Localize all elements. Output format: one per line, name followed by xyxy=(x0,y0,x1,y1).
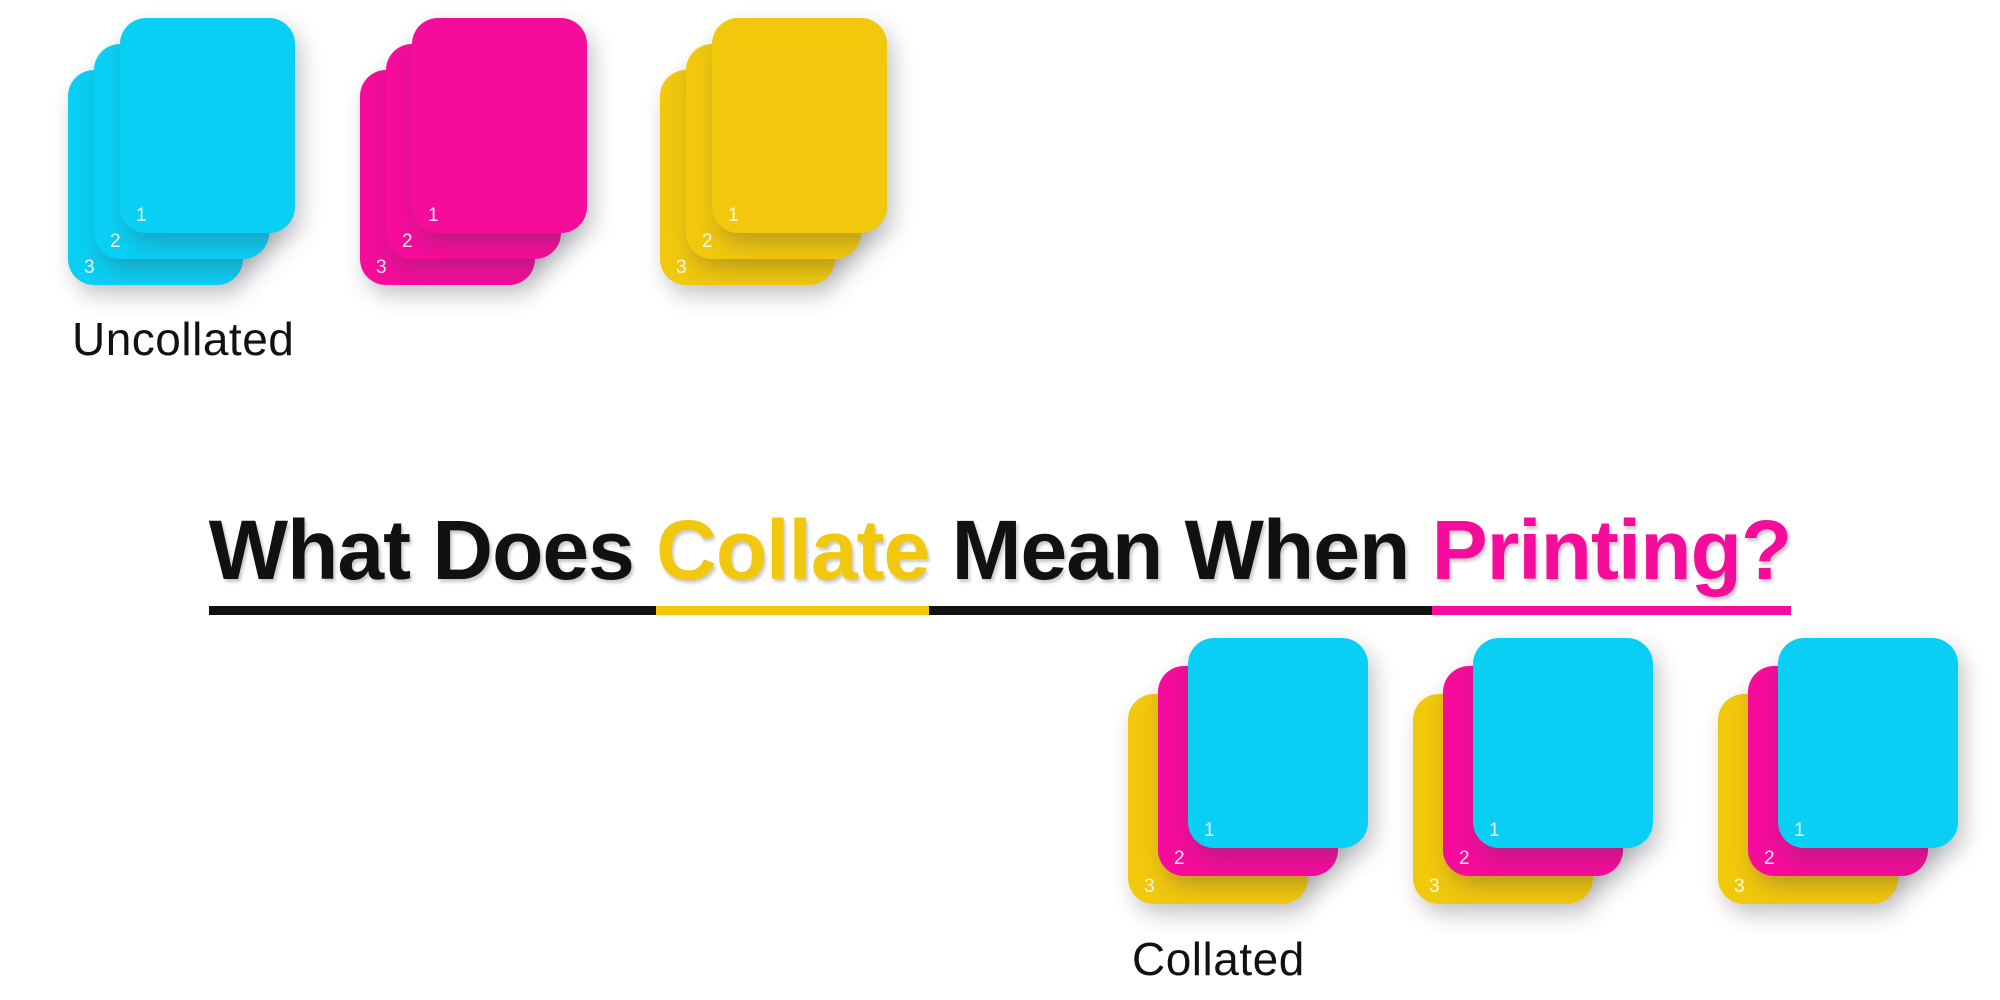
uncollated-stack-3: 321 xyxy=(660,18,980,318)
collated-sheet-page-1: 1 xyxy=(1778,638,1958,848)
page-number: 1 xyxy=(136,206,147,225)
page-number: 2 xyxy=(1174,849,1185,868)
page-number: 3 xyxy=(1429,877,1440,896)
page-number: 3 xyxy=(376,258,387,277)
title-segment-2: Mean When xyxy=(929,508,1431,615)
page-number: 1 xyxy=(1794,821,1805,840)
title-segment-1: Collate xyxy=(656,508,929,615)
page-number: 1 xyxy=(1489,821,1500,840)
uncollated-stack-1: 321 xyxy=(68,18,388,318)
uncollated-sheet-page-1: 1 xyxy=(412,18,587,233)
page-number: 3 xyxy=(676,258,687,277)
page-number: 3 xyxy=(1734,877,1745,896)
page-number: 1 xyxy=(1204,821,1215,840)
page-number: 2 xyxy=(402,232,413,251)
page-number: 1 xyxy=(428,206,439,225)
page-number: 3 xyxy=(84,258,95,277)
page-number: 2 xyxy=(1459,849,1470,868)
collated-stack-2: 321 xyxy=(1413,638,1733,938)
page-number: 1 xyxy=(728,206,739,225)
collated-stack-1: 321 xyxy=(1128,638,1448,938)
title-segment-3: Printing? xyxy=(1432,508,1792,615)
uncollated-sheet-page-1: 1 xyxy=(712,18,887,233)
uncollated-stack-2: 321 xyxy=(360,18,680,318)
page-number: 3 xyxy=(1144,877,1155,896)
uncollated-label: Uncollated xyxy=(72,312,294,366)
collated-label: Collated xyxy=(1132,932,1305,986)
page-number: 2 xyxy=(1764,849,1775,868)
page-number: 2 xyxy=(110,232,121,251)
collated-stack-3: 321 xyxy=(1718,638,2000,938)
uncollated-sheet-page-1: 1 xyxy=(120,18,295,233)
page-title: What Does Collate Mean When Printing? xyxy=(209,508,1791,615)
collated-sheet-page-1: 1 xyxy=(1188,638,1368,848)
page-number: 2 xyxy=(702,232,713,251)
poster-canvas: 321321321 Uncollated What Does Collate M… xyxy=(0,0,2000,1000)
collated-sheet-page-1: 1 xyxy=(1473,638,1653,848)
title-segment-0: What Does xyxy=(209,508,656,615)
